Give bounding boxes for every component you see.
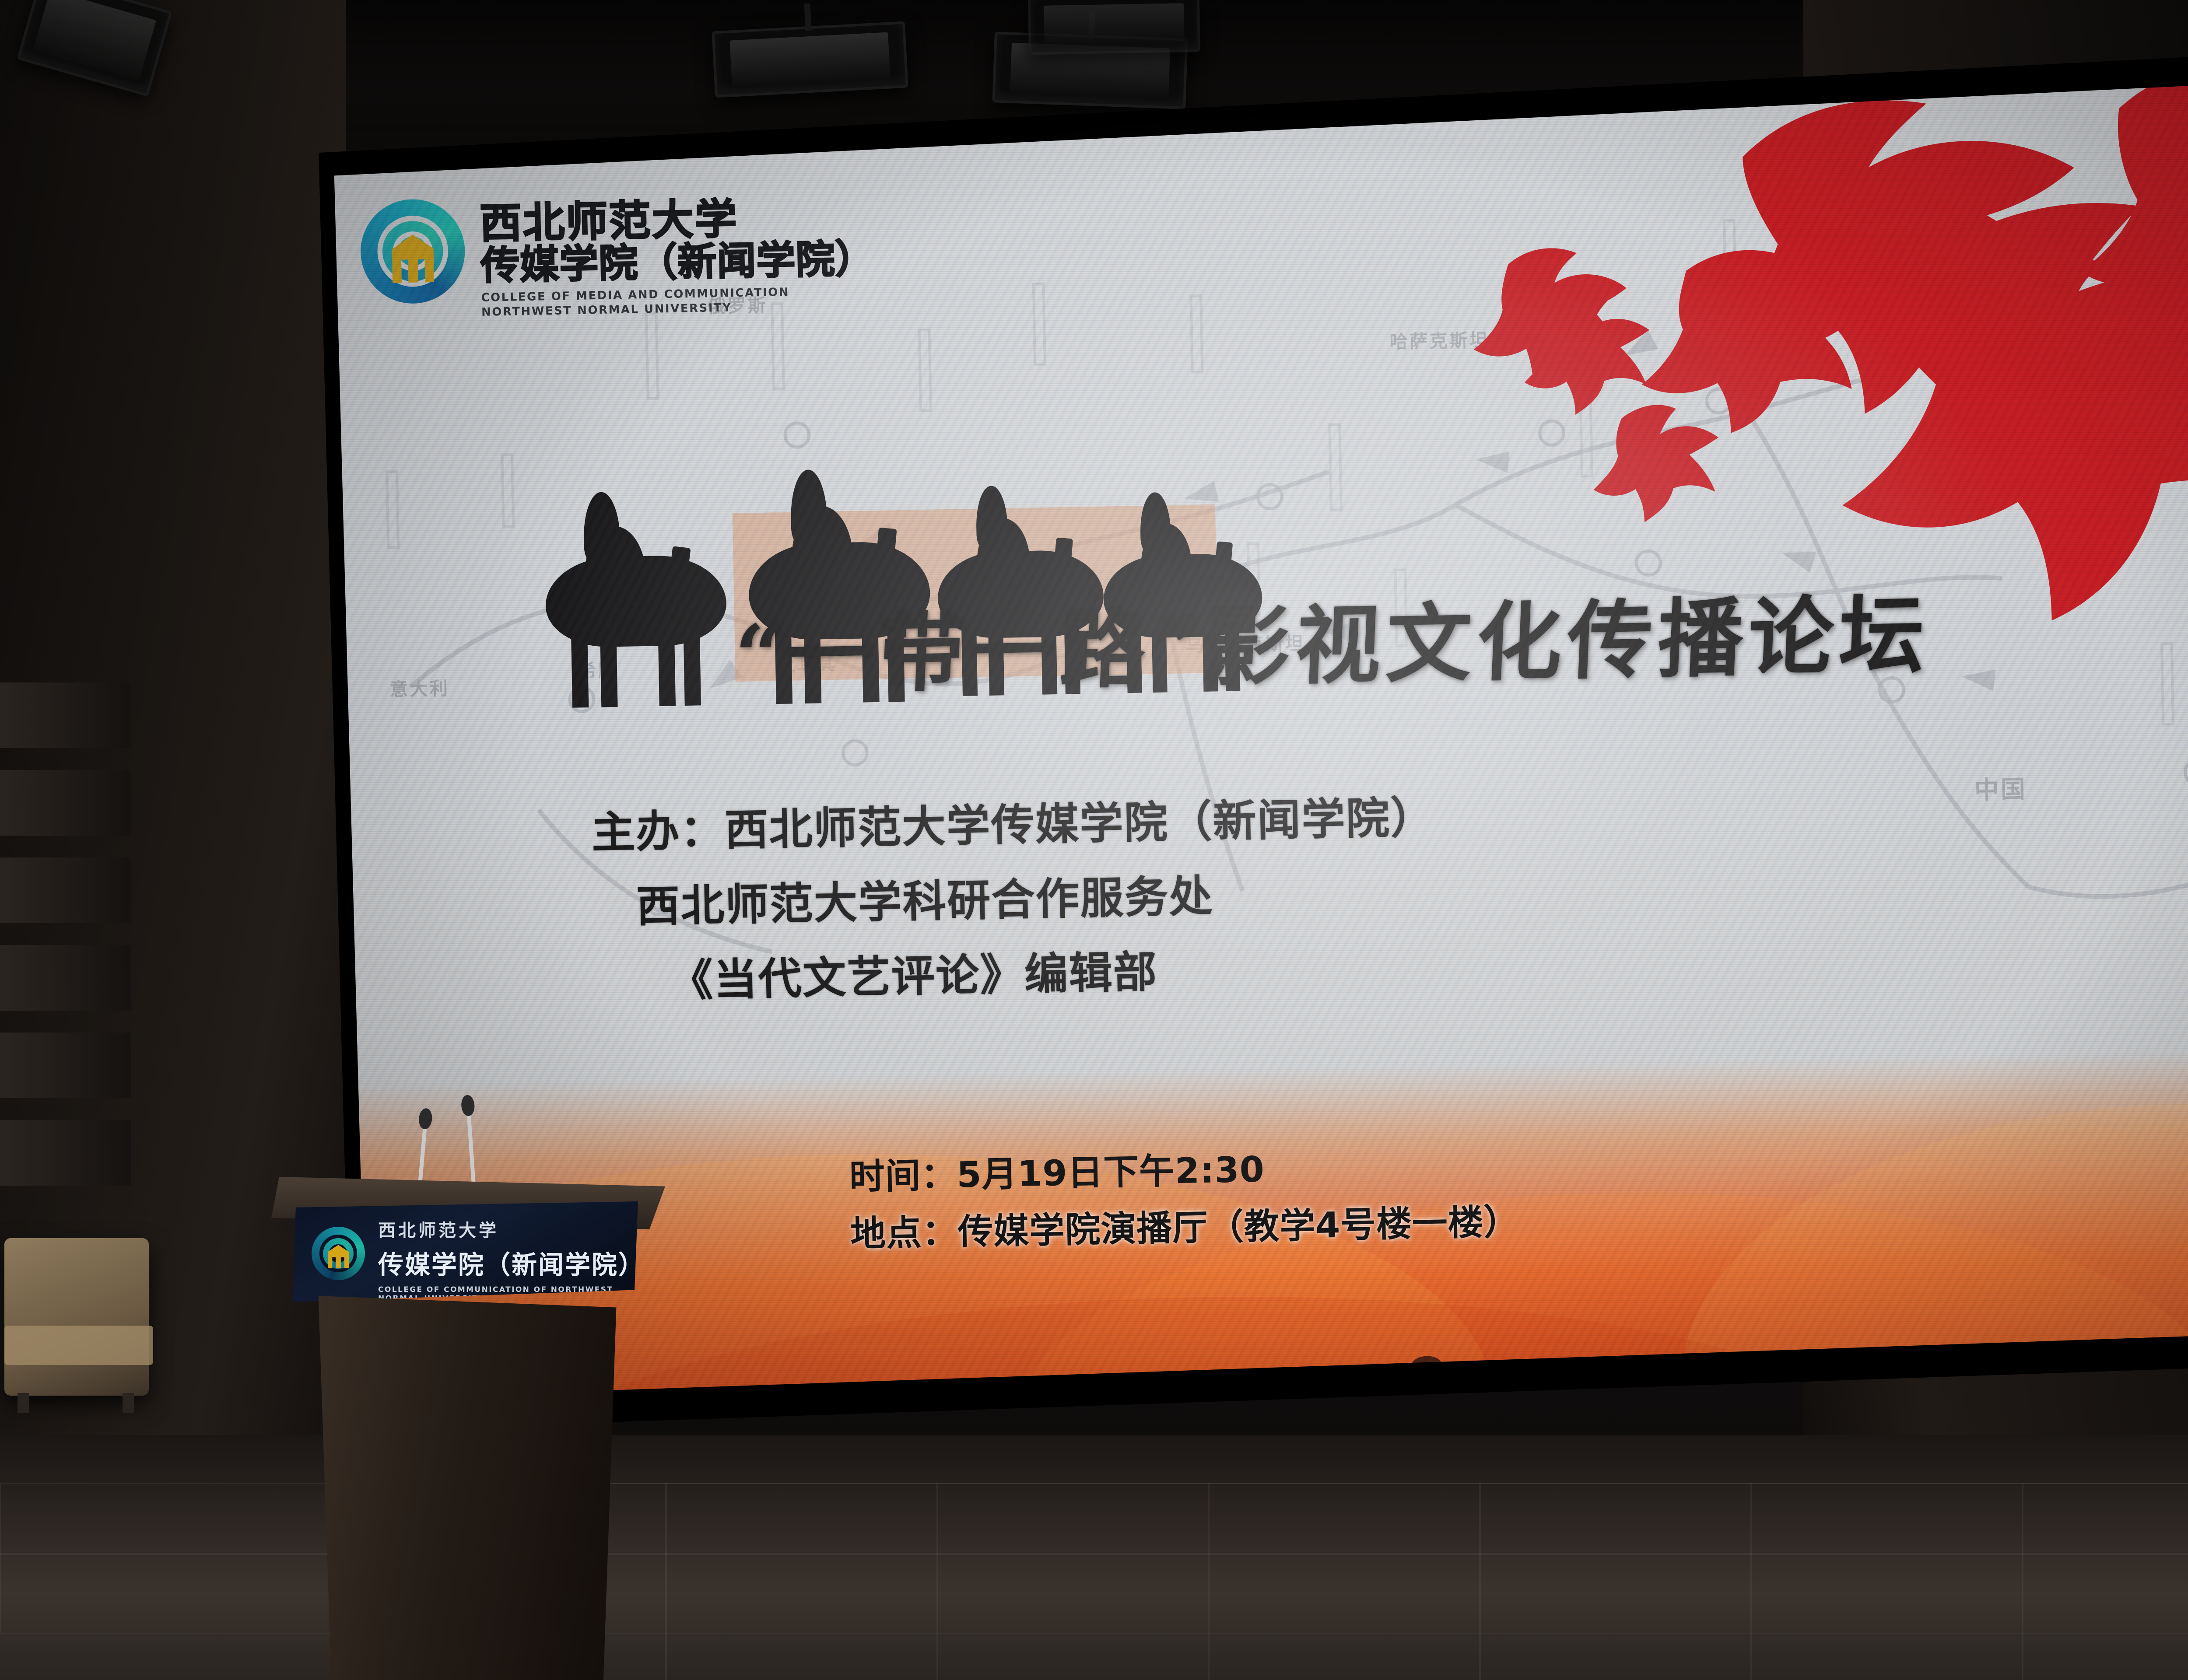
wall-strip-2 [0,770,131,836]
organizer-line-3: 《当代文艺评论》编辑部 [593,929,1438,1019]
lectern-cn-line1: 西北师范大学 [378,1216,638,1242]
sofa-leg [123,1393,134,1413]
lectern-sign-text: 西北师范大学 传媒学院（新闻学院） COLLEGE OF COMMUNICATI… [378,1216,638,1303]
floor-tile [1750,1483,2023,1680]
auditorium-scene: ◄ ◄ ◄ ◄ ◄ ◄ ◄ ◄ [0,0,2188,1680]
sofa-leg [18,1393,29,1413]
lectern-body [305,1296,629,1680]
nwnu-logo-icon [312,1227,365,1280]
floor-tile [936,1483,1210,1680]
lectern-sign-panel: 西北师范大学 传媒学院（新闻学院） COLLEGE OF COMMUNICATI… [292,1201,638,1302]
lectern: 西北师范大学 传媒学院（新闻学院） COLLEGE OF COMMUNICATI… [271,1177,665,1680]
sofa-seat [4,1326,153,1365]
wall-strip-3 [0,857,131,923]
ceiling-light-3 [1028,0,1200,55]
wall-strip-5 [0,1032,131,1098]
organizer-block: 主办：西北师范大学传媒学院（新闻学院） 西北师范大学科研合作服务处 《当代文艺评… [591,780,1438,1020]
floor-tile [665,1483,938,1680]
floor-tile [2022,1483,2188,1680]
wall-strip-4 [0,945,131,1011]
dove-icon [1592,404,1720,523]
nwnu-logo-icon [360,198,466,304]
floor-tile [1208,1483,1481,1680]
university-logo-block: 西北师范大学 传媒学院（新闻学院） COLLEGE OF MEDIA AND C… [360,191,875,317]
event-location: 地点：传媒学院演播厅（教学4号楼一楼） [850,1193,1520,1263]
wall-strip-1 [0,682,131,748]
logo-text-block: 西北师范大学 传媒学院（新闻学院） COLLEGE OF MEDIA AND C… [480,195,876,319]
sofa [4,1238,149,1396]
lectern-cn-line2: 传媒学院（新闻学院） [378,1244,638,1281]
wall-strip-6 [0,1120,131,1186]
floor-tile [1479,1483,1752,1680]
organizer-line-1: 主办：西北师范大学传媒学院（新闻学院） [591,780,1435,870]
event-info-block: 时间：5月19日下午2:30 地点：传媒学院演播厅（教学4号楼一楼） [849,1137,1520,1263]
logo-cn-line2: 传媒学院（新闻学院） [480,238,875,287]
